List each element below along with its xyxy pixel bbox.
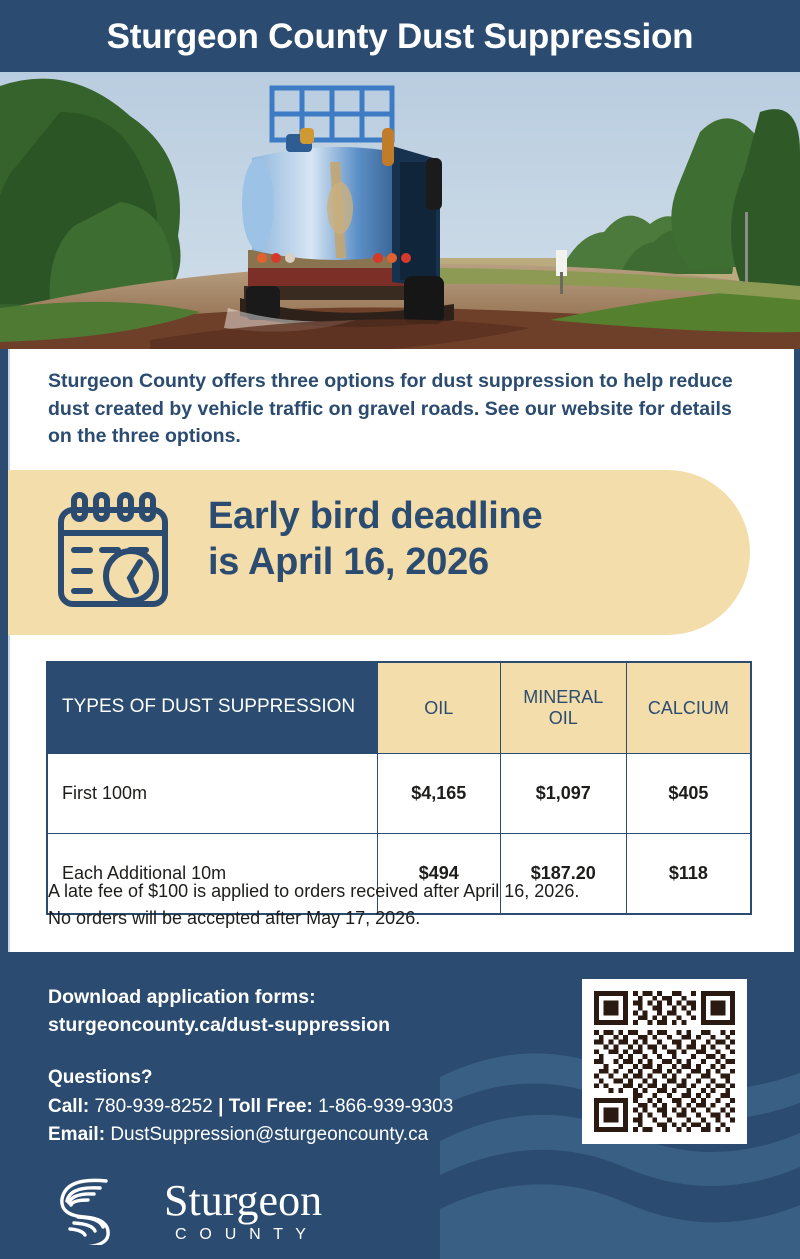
cell-first100m-oil: $4,165 [377,754,500,834]
table-header-mineral-oil-line2: OIL [502,708,625,729]
table-header-oil: OIL [377,662,500,754]
hero-photo [0,72,800,349]
questions-label: Questions? [48,1064,453,1093]
separator: | [218,1096,223,1117]
call-line: Call: 780-939-8252 | Toll Free: 1-866-93… [48,1093,453,1122]
calendar-clock-icon [52,490,174,612]
late-fee-line1: A late fee of $100 is applied to orders … [48,878,758,905]
page-title: Sturgeon County Dust Suppression [107,19,694,54]
early-bird-line2: is April 16, 2026 [208,539,542,585]
page-header: Sturgeon County Dust Suppression [0,0,800,72]
hero-photo-illustration [0,72,800,349]
calendar-clock-glyph [52,490,174,612]
table-row: First 100m $4,165 $1,097 $405 [47,754,751,834]
early-bird-line1: Early bird deadline [208,493,542,539]
early-bird-text: Early bird deadline is April 16, 2026 [208,493,542,586]
email-value[interactable]: DustSuppression@sturgeoncounty.ca [110,1124,428,1145]
table-header-oil-line1: OIL [379,698,499,719]
logo-mark: Sturgeon C O U N T Y [44,1171,334,1245]
logo-wordmark: Sturgeon [164,1176,322,1225]
intro-paragraph: Sturgeon County offers three options for… [48,368,760,451]
toll-free-value[interactable]: 1-866-939-9303 [318,1096,453,1117]
call-label: Call: [48,1096,89,1117]
toll-free-label: Toll Free: [229,1096,313,1117]
cell-first100m-mineral-oil: $1,097 [500,754,626,834]
download-block: Download application forms: sturgeoncoun… [48,984,390,1039]
late-fee-line2: No orders will be accepted after May 17,… [48,905,758,932]
email-line: Email: DustSuppression@sturgeoncounty.ca [48,1121,453,1150]
table-header-row: TYPES OF DUST SUPPRESSION OIL MINERAL OI… [47,662,751,754]
call-value[interactable]: 780-939-8252 [94,1096,212,1117]
left-edge-hairline [8,349,10,952]
table-header-calcium-line1: CALCIUM [628,698,749,719]
cell-first100m-calcium: $405 [626,754,751,834]
download-label: Download application forms: [48,984,390,1012]
row-label-first-100m: First 100m [47,754,377,834]
poster: Sturgeon County Dust Suppression [0,0,800,1259]
right-edge-rule [794,349,800,952]
late-fee-note: A late fee of $100 is applied to orders … [48,878,758,931]
logo-subtext: C O U N T Y [175,1226,310,1243]
questions-block: Questions? Call: 780-939-8252 | Toll Fre… [48,1064,453,1150]
pricing-table: TYPES OF DUST SUPPRESSION OIL MINERAL OI… [46,661,752,915]
qr-code-icon[interactable] [594,991,735,1132]
download-url[interactable]: sturgeoncounty.ca/dust-suppression [48,1012,390,1040]
sturgeon-county-logo: Sturgeon C O U N T Y [44,1171,334,1245]
table-header-calcium: CALCIUM [626,662,751,754]
table-header-label: TYPES OF DUST SUPPRESSION [47,662,377,754]
table-header-mineral-oil: MINERAL OIL [500,662,626,754]
left-edge-rule [0,349,8,952]
email-label: Email: [48,1124,105,1145]
table-header-mineral-oil-line1: MINERAL [502,687,625,708]
qr-code-card[interactable] [582,979,747,1144]
early-bird-banner: Early bird deadline is April 16, 2026 [8,470,750,635]
